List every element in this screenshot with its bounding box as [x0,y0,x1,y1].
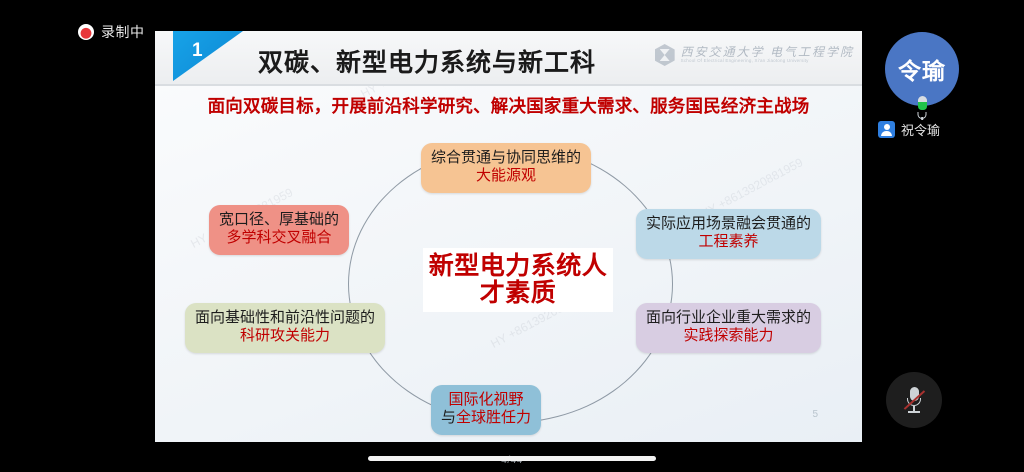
box-line1: 面向基础性和前沿性问题的 [195,309,375,327]
box-line2: 科研攻关能力 [195,327,375,345]
home-indicator[interactable] [368,456,656,461]
box-line2-prefix: 与 [441,409,456,426]
participant-rail: 令瑜 祝令瑜 [862,0,1024,472]
diagram-box-bottom: 国际化视野 与全球胜任力 [431,385,541,435]
slide-subtitle: 面向双碳目标，开展前沿科学研究、解决国家重大需求、服务国民经济主战场 [155,93,862,118]
box-line2: 多学科交叉融合 [219,229,339,247]
university-emblem-icon [655,44,675,66]
header-triangle-badge [173,31,243,81]
center-line1: 新型电力系统人 [429,253,608,281]
university-name-en: School Of Electrical Engineering, Xi'an … [681,59,854,64]
competency-diagram: 综合贯通与协同思维的 大能源观 宽口径、厚基础的 多学科交叉融合 实际应用场景融… [155,127,862,442]
diagram-box-lower-left: 面向基础性和前沿性问题的 科研攻关能力 [185,303,385,353]
box-line1: 国际化视野 [441,391,531,409]
recording-label: 录制中 [101,22,145,42]
diagram-box-upper-right: 实际应用场景融会贯通的 工程素养 [636,209,821,259]
participant-name-row: 祝令瑜 [878,120,940,139]
slide-title: 双碳、新型电力系统与新工科 [258,43,596,79]
diagram-box-upper-left: 宽口径、厚基础的 多学科交叉融合 [209,205,349,255]
mute-toggle-button[interactable] [886,372,942,428]
box-line2: 实践探索能力 [646,327,811,345]
avatar[interactable]: 令瑜 [885,32,959,106]
center-line2: 才素质 [480,280,557,308]
record-dot-icon [78,24,94,40]
screen-root: 录制中 HY +8613920881959 HY +8613920881959 … [0,0,1024,472]
diagram-box-lower-right: 面向行业企业重大需求的 实践探索能力 [636,303,821,353]
recording-indicator: 录制中 [78,22,145,42]
slide-page-number: 5 [812,409,818,420]
diagram-box-top: 综合贯通与协同思维的 大能源观 [421,143,591,193]
box-line1: 实际应用场景融会贯通的 [646,215,811,233]
slide-section-number: 1 [192,40,203,62]
diagram-center-label: 新型电力系统人 才素质 [423,248,613,312]
university-logo: 西安交通大学 电气工程学院 School Of Electrical Engin… [655,44,854,66]
box-line2-main: 全球胜任力 [456,409,531,426]
box-line1: 面向行业企业重大需求的 [646,309,811,327]
avatar-initials: 令瑜 [898,52,946,86]
mic-muted-icon [904,386,924,414]
person-icon [878,121,895,138]
box-line2: 与全球胜任力 [441,409,531,427]
shared-slide[interactable]: HY +8613920881959 HY +8613920881959 HY +… [155,31,862,442]
box-line2: 工程素养 [646,233,811,251]
box-line2: 大能源观 [431,167,581,185]
mic-active-icon [914,96,930,120]
box-line1: 宽口径、厚基础的 [219,211,339,229]
participant-name: 祝令瑜 [901,120,940,139]
box-line1: 综合贯通与协同思维的 [431,149,581,167]
slide-header: 1 双碳、新型电力系统与新工科 西安交通大学 电气工程学院 School Of … [155,31,862,86]
